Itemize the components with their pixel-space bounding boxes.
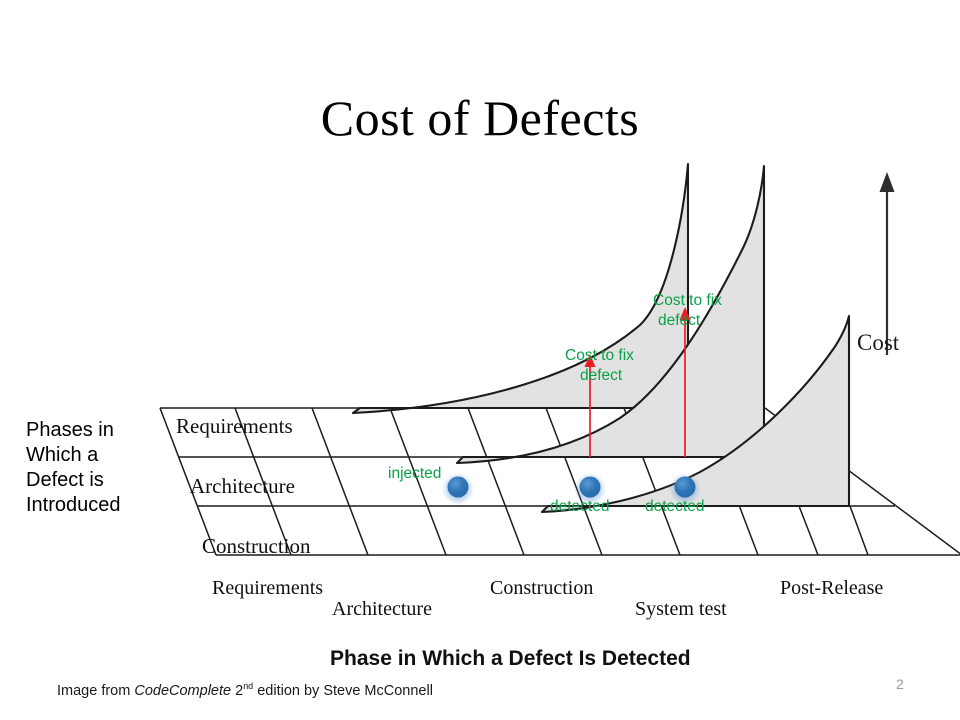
surface-requirements (353, 164, 688, 413)
x-axis-label-post-release: Post-Release (780, 577, 883, 599)
depth-axis-label-construction: Construction (202, 534, 311, 558)
cost-axis-arrow (880, 172, 895, 355)
cost-axis-label: Cost (857, 330, 900, 355)
annotation-cost-to-fix-2-line1: Cost to fix (653, 292, 722, 309)
x-axis-title: Phase in Which a Defect Is Detected (330, 647, 691, 670)
annotation-detected-1: detected (550, 498, 609, 515)
source-edition-number: 2 (231, 683, 243, 699)
annotation-injected: injected (388, 465, 441, 482)
slide-canvas: Cost of Defects Phases in Which a Defect… (0, 0, 960, 720)
annotation-cost-to-fix-2-line2: defect (658, 312, 701, 329)
source-attribution: Image from CodeComplete 2nd edition by S… (57, 681, 433, 699)
x-axis-label-requirements: Requirements (212, 577, 323, 599)
annotation-detected-2: detected (645, 498, 704, 515)
cost-of-defects-figure: injected detected detected Cost to fix d… (150, 150, 960, 680)
x-axis-label-architecture: Architecture (332, 598, 432, 620)
page-title: Cost of Defects (0, 92, 960, 145)
surface-architecture (457, 166, 764, 463)
source-prefix: Image from (57, 683, 134, 699)
x-axis-label-system-test: System test (635, 598, 727, 620)
annotation-cost-to-fix-1-line1: Cost to fix (565, 347, 634, 364)
depth-axis-label-requirements: Requirements (176, 414, 293, 438)
marker-injected[interactable] (442, 473, 474, 505)
source-book-title: CodeComplete (134, 683, 231, 699)
source-tail: edition by Steve McConnell (253, 683, 433, 699)
source-edition-suffix: nd (243, 681, 253, 691)
depth-axis-label-architecture: Architecture (190, 474, 295, 498)
annotation-cost-to-fix-1-line2: defect (580, 367, 623, 384)
x-axis-label-construction: Construction (490, 577, 593, 599)
page-number: 2 (896, 676, 904, 692)
